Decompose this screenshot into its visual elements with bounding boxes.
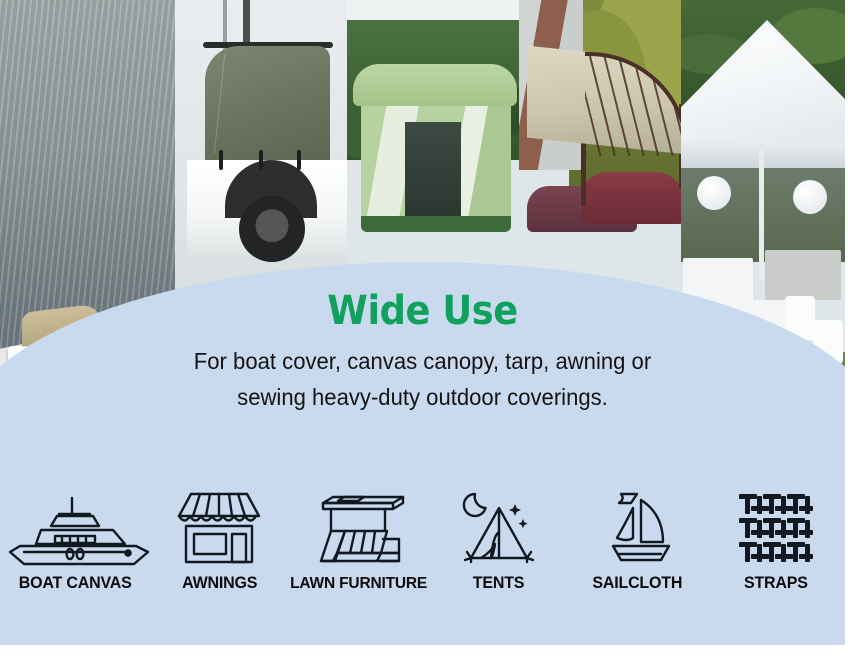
use-case-label: SAILCLOTH [592, 574, 682, 593]
use-case-label: TENTS [473, 574, 525, 593]
page-subtitle: For boat cover, canvas canopy, tarp, awn… [17, 344, 828, 415]
tent-center-pole [759, 150, 764, 280]
storefront-awning-icon [173, 488, 265, 568]
subtitle-line-1: For boat cover, canvas canopy, tarp, awn… [17, 344, 828, 380]
olive-canvas-soft-top [205, 46, 330, 164]
use-case-tents[interactable]: TENTS [430, 488, 568, 593]
use-case-label: AWNINGS [182, 574, 257, 593]
use-case-awnings[interactable]: AWNINGS [150, 488, 288, 593]
use-case-row: BOAT CANVAS AWNINGS [0, 488, 845, 593]
tent-mesh-door [405, 122, 461, 218]
tent-moon-icon [457, 488, 541, 568]
woven-weave-icon [737, 488, 815, 568]
use-case-label: LAWN FURNITURE [291, 575, 428, 593]
wide-use-banner: Wide Use For boat cover, canvas canopy, … [0, 0, 845, 645]
subtitle-line-2: sewing heavy-duty outdoor coverings. [17, 380, 828, 416]
use-case-straps[interactable]: STRAPS [707, 488, 845, 593]
canvas-fastener [219, 150, 223, 170]
page-title: Wide Use [34, 290, 811, 332]
paper-lantern [793, 180, 827, 214]
use-case-sailcloth[interactable]: SAILCLOTH [568, 488, 706, 593]
porch-swing-icon [307, 489, 411, 569]
use-case-boat-canvas[interactable]: BOAT CANVAS [0, 488, 150, 593]
headline-block: Wide Use For boat cover, canvas canopy, … [0, 290, 845, 415]
tent-roof [353, 64, 517, 106]
tent-groundsheet [361, 216, 511, 232]
use-case-label: BOAT CANVAS [19, 574, 132, 593]
paper-lantern [697, 176, 731, 210]
use-case-label: STRAPS [744, 574, 808, 593]
canvas-fastener [259, 150, 263, 170]
sailboat-icon [591, 488, 683, 568]
canvas-fastener [297, 150, 301, 170]
tire [239, 196, 305, 262]
yacht-icon [0, 488, 150, 568]
parked-car-rear [581, 172, 681, 224]
use-case-lawn-furniture[interactable]: LAWN FURNITURE [288, 489, 429, 593]
